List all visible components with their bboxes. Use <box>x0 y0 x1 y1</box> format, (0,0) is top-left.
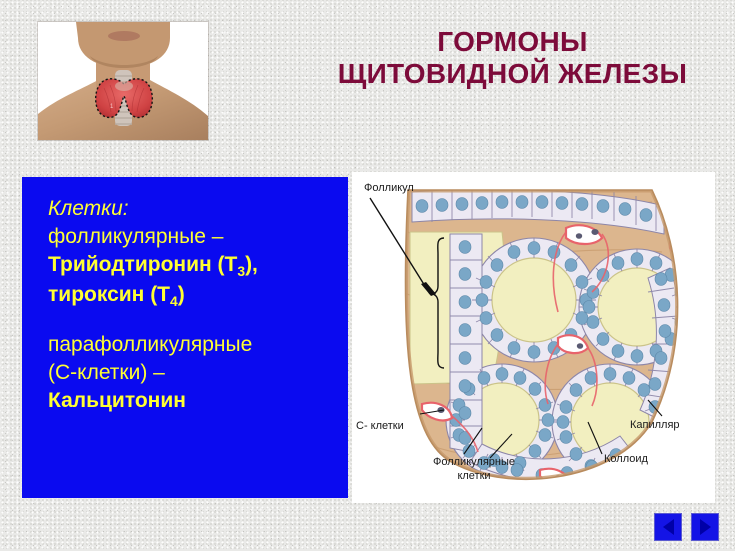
textbox-line-follicular: фолликулярные – <box>48 223 348 251</box>
textbox-line-parafollicular: парафолликулярные <box>48 331 348 359</box>
t4-base: тироксин (Т <box>48 283 170 306</box>
textbox-line-cells: Клетки: <box>48 195 348 223</box>
t4-tail: ) <box>178 283 185 306</box>
label-follicular-cells: Фолликулярные клетки <box>414 456 534 484</box>
neck-thyroid-photo: 1 <box>38 22 208 140</box>
textbox-line-calcitonin: Кальцитонин <box>48 387 348 415</box>
arrow-right-icon <box>700 519 711 535</box>
t3-subscript: 3 <box>237 263 245 279</box>
next-slide-button[interactable] <box>691 513 719 541</box>
thyroid-histology-illustration <box>352 172 715 503</box>
thyroid-histology-panel: Фолликул С- клетки Фолликулярные клетки … <box>352 172 715 503</box>
page-title: ГОРМОНЫ ЩИТОВИДНОЙ ЖЕЛЕЗЫ <box>300 26 725 91</box>
textbox-spacer <box>48 311 348 331</box>
textbox-line-triiodothyronine: Трийодтиронин (Т3), <box>48 251 348 281</box>
title-line-2: ЩИТОВИДНОЙ ЖЕЛЕЗЫ <box>300 58 725 90</box>
slide-navigation <box>654 513 719 541</box>
previous-slide-button[interactable] <box>654 513 682 541</box>
arrow-left-icon <box>663 519 674 535</box>
cells-hormones-textbox: Клетки: фолликулярные – Трийодтиронин (Т… <box>22 177 348 498</box>
t4-subscript: 4 <box>170 293 178 309</box>
t3-tail: ), <box>245 253 258 276</box>
t3-base: Трийодтиронин (Т <box>48 253 237 276</box>
textbox-line-ccells: (С-клетки) – <box>48 359 348 387</box>
label-c-cells: С- клетки <box>356 420 404 432</box>
label-follicular-cells-line2: клетки <box>457 470 490 482</box>
label-colloid: Коллоид <box>604 453 648 465</box>
label-follicular-cells-line1: Фолликулярные <box>433 456 515 468</box>
label-capillary: Капилляр <box>630 419 680 431</box>
title-line-1: ГОРМОНЫ <box>300 26 725 58</box>
textbox-line-thyroxine: тироксин (Т4) <box>48 281 348 311</box>
label-follicle: Фолликул <box>364 182 414 194</box>
